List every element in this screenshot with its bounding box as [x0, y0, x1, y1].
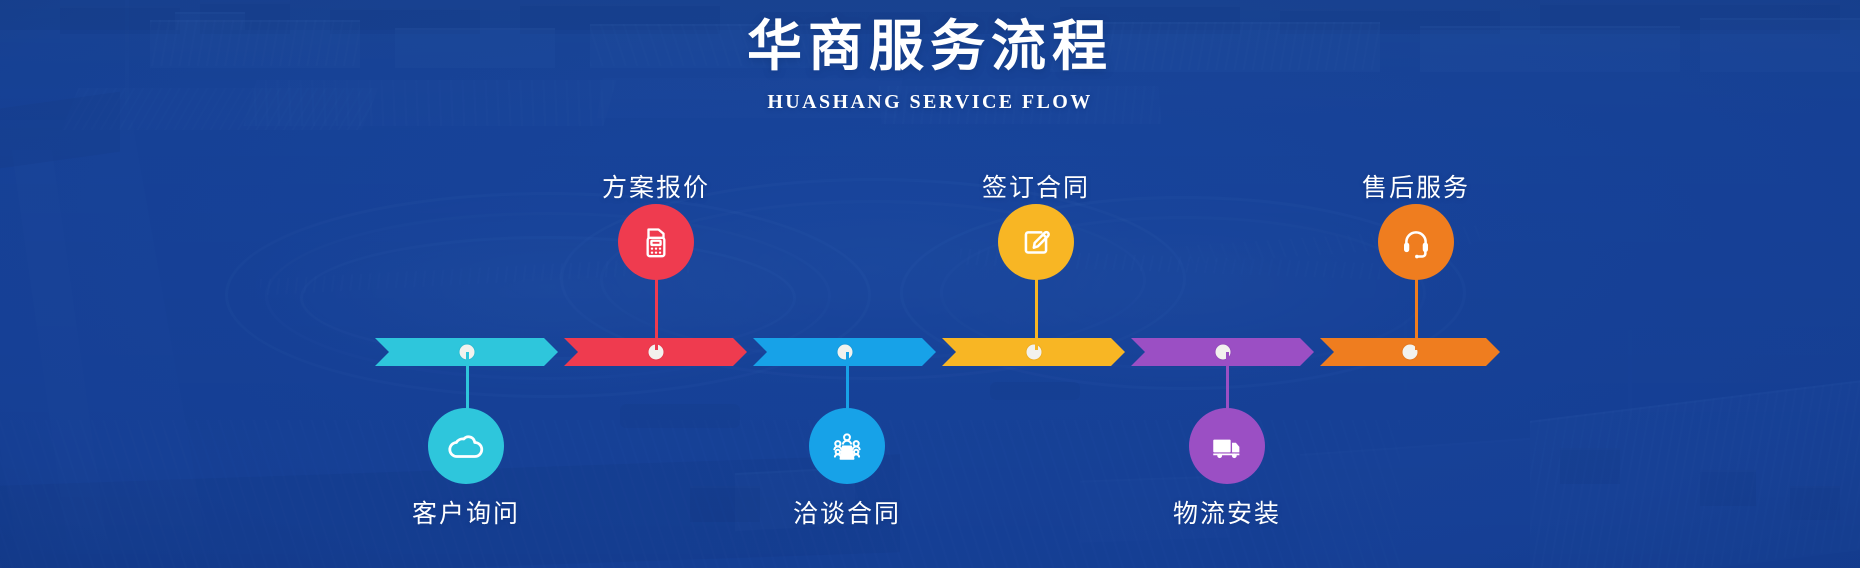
- connector-line-6: [1415, 278, 1418, 350]
- step-icon-circle-5[interactable]: [1189, 408, 1265, 484]
- timeline-segment-4[interactable]: [942, 338, 1125, 366]
- page-title: 华商服务流程: [0, 16, 1860, 77]
- timeline-segment-6[interactable]: [1320, 338, 1500, 366]
- connector-line-4: [1035, 278, 1038, 350]
- step-label-3: 洽谈合同: [717, 494, 977, 530]
- headset-icon: [1395, 221, 1437, 263]
- banner-header: 华商服务流程 HUASHANG SERVICE FLOW: [0, 16, 1860, 114]
- page-subtitle: HUASHANG SERVICE FLOW: [0, 91, 1860, 114]
- connector-line-2: [655, 278, 658, 350]
- step-icon-circle-4[interactable]: [998, 204, 1074, 280]
- timeline-dot-3: [837, 345, 852, 360]
- service-flow-banner: 华商服务流程 HUASHANG SERVICE FLOW: [0, 0, 1860, 568]
- step-icon-circle-3[interactable]: [809, 408, 885, 484]
- connector-line-5: [1226, 352, 1229, 412]
- connector-line-1: [466, 352, 469, 412]
- calculator-icon: [636, 222, 676, 262]
- meeting-icon: [825, 424, 869, 468]
- step-label-6: 售后服务: [1286, 168, 1546, 204]
- step-label-4: 签订合同: [906, 168, 1166, 204]
- connector-line-3: [846, 352, 849, 412]
- timeline-dot-4: [1026, 345, 1041, 360]
- cloud-icon: [445, 425, 487, 467]
- truck-icon: [1205, 424, 1249, 468]
- step-label-2: 方案报价: [526, 168, 786, 204]
- step-icon-circle-2[interactable]: [618, 204, 694, 280]
- sign-contract-icon: [1015, 221, 1057, 263]
- step-icon-circle-1[interactable]: [428, 408, 504, 484]
- timeline-segment-3[interactable]: [753, 338, 936, 366]
- step-label-5: 物流安装: [1097, 494, 1357, 530]
- timeline-segment-5[interactable]: [1131, 338, 1314, 366]
- step-label-1: 客户询问: [336, 494, 596, 530]
- step-icon-circle-6[interactable]: [1378, 204, 1454, 280]
- process-timeline-bar: [375, 338, 1500, 366]
